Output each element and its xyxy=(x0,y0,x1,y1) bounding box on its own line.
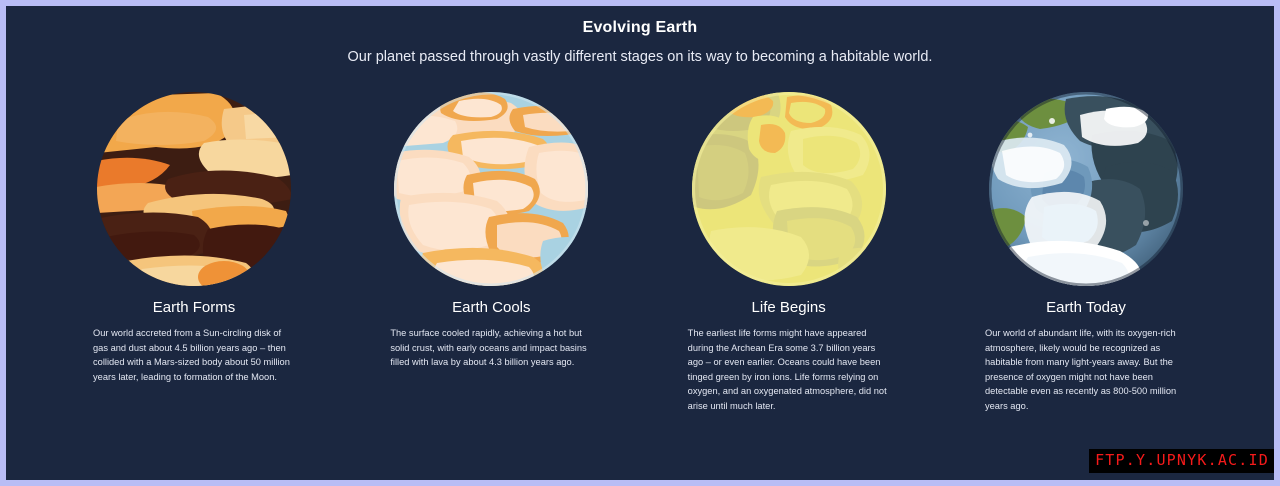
panel-heading: Earth Forms xyxy=(153,299,236,317)
header: Evolving Earth Our planet passed through… xyxy=(6,6,1274,67)
panel-body: The surface cooled rapidly, achieving a … xyxy=(390,326,592,370)
page-subtitle: Our planet passed through vastly differe… xyxy=(6,47,1274,67)
panel-body: Our world of abundant life, with its oxy… xyxy=(985,326,1187,414)
panel-heading: Earth Cools xyxy=(452,299,530,317)
archean-earth-globe xyxy=(691,91,887,287)
panel-heading: Life Begins xyxy=(752,299,826,317)
panel-body: Our world accreted from a Sun-circling d… xyxy=(93,326,295,384)
cooling-earth-globe xyxy=(393,91,589,287)
globe-wrap xyxy=(683,89,895,289)
panel-row: Earth Forms Our world accreted from a Su… xyxy=(6,89,1274,414)
panel-life-begins: Life Begins The earliest life forms migh… xyxy=(683,89,895,414)
globe-wrap xyxy=(88,89,300,289)
panel-heading: Earth Today xyxy=(1046,299,1126,317)
panel-earth-forms: Earth Forms Our world accreted from a Su… xyxy=(88,89,300,414)
globe-wrap xyxy=(980,89,1192,289)
modern-earth-globe xyxy=(988,91,1184,287)
panel-body: The earliest life forms might have appea… xyxy=(688,326,890,414)
molten-earth-globe xyxy=(96,91,292,287)
watermark: FTP.Y.UPNYK.AC.ID xyxy=(1089,449,1274,473)
infographic-canvas: Evolving Earth Our planet passed through… xyxy=(6,6,1274,480)
panel-earth-cools: Earth Cools The surface cooled rapidly, … xyxy=(385,89,597,414)
panel-earth-today: Earth Today Our world of abundant life, … xyxy=(980,89,1192,414)
page-title: Evolving Earth xyxy=(6,18,1274,38)
globe-wrap xyxy=(385,89,597,289)
